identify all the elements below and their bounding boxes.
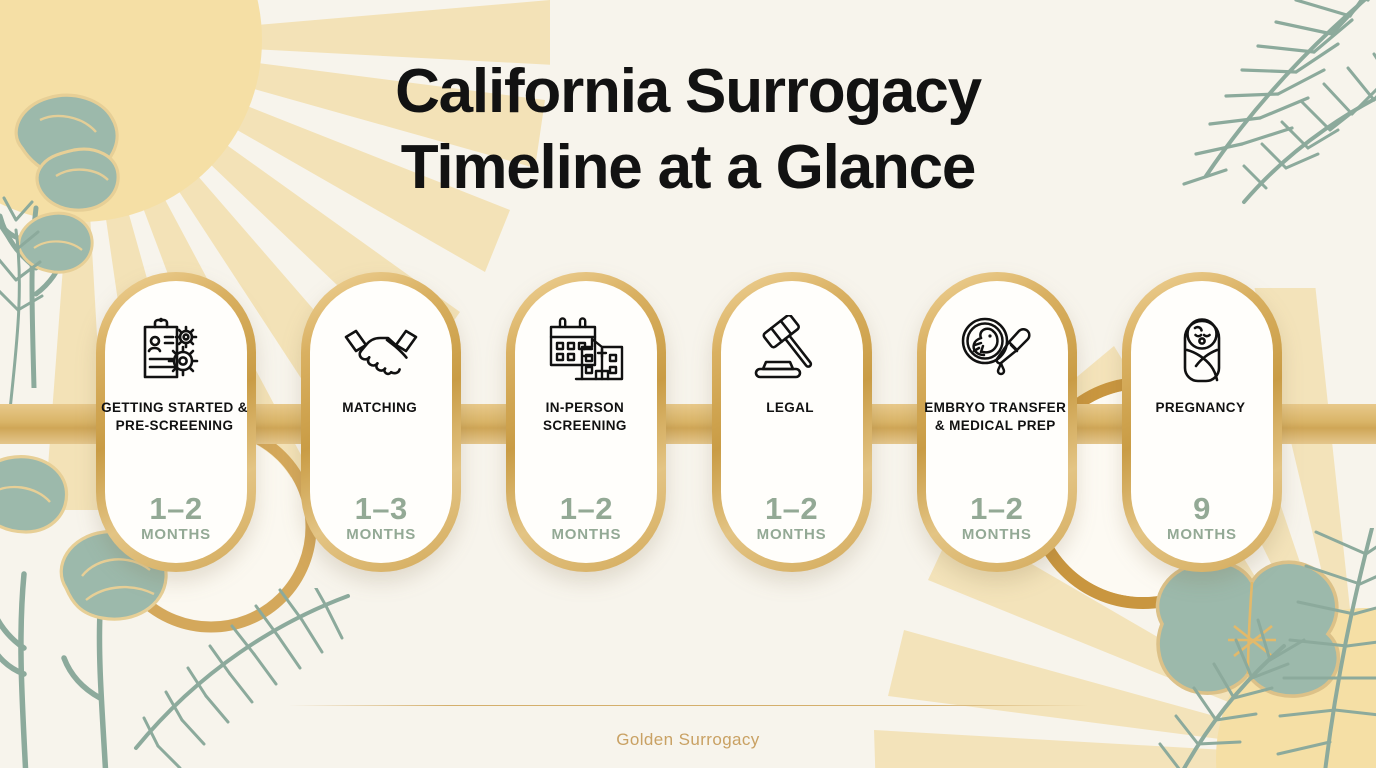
handshake-icon xyxy=(340,307,422,393)
step-card-inner: PREGNANCY 9 MONTHS xyxy=(1131,281,1273,563)
clipboard-gears-icon xyxy=(139,307,213,393)
step-title: PREGNANCY xyxy=(1125,399,1275,417)
step-title: IN-PERSON SCREENING xyxy=(510,399,660,435)
step-duration: 1–2 xyxy=(934,493,1060,525)
step-duration-group: 1–2 MONTHS xyxy=(934,493,1060,543)
timeline-step-legal[interactable]: LEGAL 1–2 MONTHS xyxy=(712,272,872,572)
step-title: GETTING STARTED & PRE-SCREENING xyxy=(100,399,250,435)
timeline-step-pregnancy[interactable]: PREGNANCY 9 MONTHS xyxy=(1122,272,1282,572)
gavel-icon xyxy=(753,307,831,393)
timeline-step-getting-started[interactable]: GETTING STARTED & PRE-SCREENING 1–2 MONT… xyxy=(96,272,256,572)
title-line-1: California Surrogacy xyxy=(0,54,1376,130)
step-card: LEGAL 1–2 MONTHS xyxy=(712,272,872,572)
step-duration-unit: MONTHS xyxy=(523,526,649,543)
step-duration: 1–2 xyxy=(729,493,855,525)
embryo-dropper-icon xyxy=(957,307,1037,393)
step-duration-group: 1–2 MONTHS xyxy=(113,493,239,543)
step-title: MATCHING xyxy=(305,399,455,417)
step-duration: 9 xyxy=(1139,493,1265,525)
step-duration-group: 9 MONTHS xyxy=(1139,493,1265,543)
footer-divider xyxy=(288,705,1088,706)
swaddled-baby-icon xyxy=(1171,307,1233,393)
step-duration-unit: MONTHS xyxy=(318,526,444,543)
step-duration-group: 1–2 MONTHS xyxy=(523,493,649,543)
step-card-inner: IN-PERSON SCREENING 1–2 MONTHS xyxy=(515,281,657,563)
step-title: LEGAL xyxy=(715,399,865,417)
timeline-steps: GETTING STARTED & PRE-SCREENING 1–2 MONT… xyxy=(96,272,1282,572)
step-duration: 1–3 xyxy=(318,493,444,525)
page-title: California Surrogacy Timeline at a Glanc… xyxy=(0,54,1376,205)
step-title: EMBRYO TRANSFER & MEDICAL PREP xyxy=(920,399,1070,435)
timeline-step-in-person-screening[interactable]: IN-PERSON SCREENING 1–2 MONTHS xyxy=(506,272,666,572)
timeline-step-embryo-transfer[interactable]: EMBRYO TRANSFER & MEDICAL PREP 1–2 MONTH… xyxy=(917,272,1077,572)
step-duration-unit: MONTHS xyxy=(113,526,239,543)
calendar-hospital-icon xyxy=(546,307,626,393)
step-duration-unit: MONTHS xyxy=(934,526,1060,543)
step-duration: 1–2 xyxy=(113,493,239,525)
step-card: IN-PERSON SCREENING 1–2 MONTHS xyxy=(506,272,666,572)
step-card: EMBRYO TRANSFER & MEDICAL PREP 1–2 MONTH… xyxy=(917,272,1077,572)
brand-name: Golden Surrogacy xyxy=(288,730,1088,750)
footer: Golden Surrogacy xyxy=(288,705,1088,750)
infographic-canvas: California Surrogacy Timeline at a Glanc… xyxy=(0,0,1376,768)
title-line-2: Timeline at a Glance xyxy=(0,130,1376,206)
step-card-inner: MATCHING 1–3 MONTHS xyxy=(310,281,452,563)
step-card: PREGNANCY 9 MONTHS xyxy=(1122,272,1282,572)
step-duration: 1–2 xyxy=(523,493,649,525)
step-card-inner: EMBRYO TRANSFER & MEDICAL PREP 1–2 MONTH… xyxy=(926,281,1068,563)
step-card-inner: GETTING STARTED & PRE-SCREENING 1–2 MONT… xyxy=(105,281,247,563)
step-duration-unit: MONTHS xyxy=(1139,526,1265,543)
step-duration-group: 1–3 MONTHS xyxy=(318,493,444,543)
timeline-step-matching[interactable]: MATCHING 1–3 MONTHS xyxy=(301,272,461,572)
step-card: MATCHING 1–3 MONTHS xyxy=(301,272,461,572)
step-duration-unit: MONTHS xyxy=(729,526,855,543)
step-card: GETTING STARTED & PRE-SCREENING 1–2 MONT… xyxy=(96,272,256,572)
step-card-inner: LEGAL 1–2 MONTHS xyxy=(721,281,863,563)
step-duration-group: 1–2 MONTHS xyxy=(729,493,855,543)
